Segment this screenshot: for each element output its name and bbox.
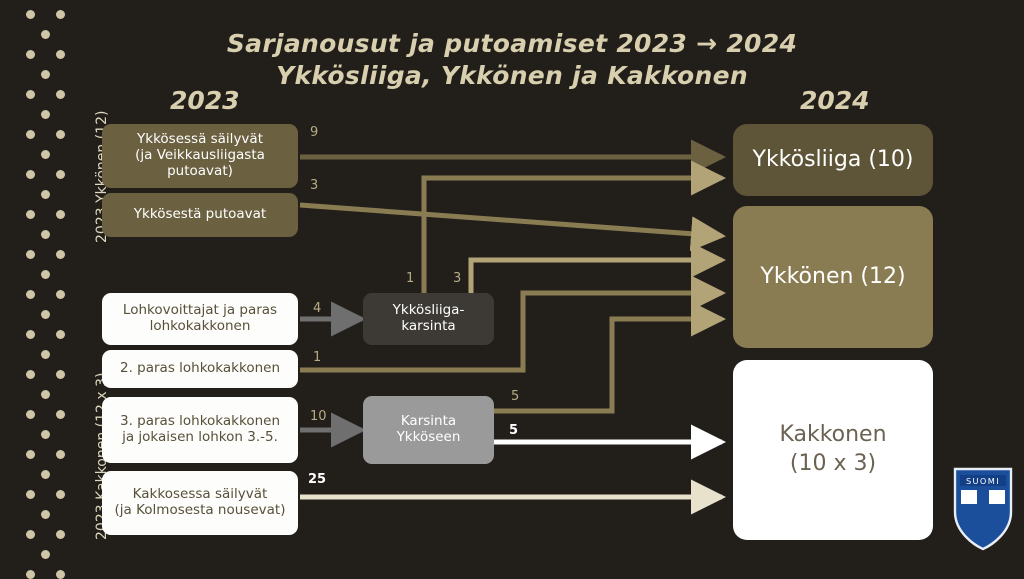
source-box-lohkovoittajat[interactable]: Lohkovoittajat ja paraslohkokakkonen bbox=[102, 293, 298, 345]
source-box-ykkosessa-sailyvat[interactable]: Ykkösessä säilyvät(ja Veikkausliigastapu… bbox=[102, 124, 298, 188]
flow-label-5-gold: 5 bbox=[511, 389, 519, 404]
source-box-kakkosessa-sailyvat[interactable]: Kakkosessa säilyvät(ja Kolmosesta nousev… bbox=[102, 471, 298, 535]
flow-label-10: 10 bbox=[310, 409, 327, 424]
flow-label-5-white: 5 bbox=[509, 423, 518, 438]
dest-box-label: Ykkösliiga (10) bbox=[753, 147, 914, 173]
flow-label-4: 4 bbox=[313, 301, 321, 316]
source-box-label: 3. paras lohkokakkonenja jokaisen lohkon… bbox=[120, 414, 280, 446]
source-box-label: Ykkösestä putoavat bbox=[134, 207, 266, 223]
dest-box-ykkonen[interactable]: Ykkönen (12) bbox=[733, 206, 933, 348]
flow-label-1-karsinta-out: 1 bbox=[406, 271, 414, 286]
arrow-5-karsinta-ykkonen bbox=[494, 319, 722, 411]
slide-canvas: Sarjanousut ja putoamiset 2023 → 2024 Yk… bbox=[0, 0, 1024, 576]
dest-box-kakkonen[interactable]: Kakkonen(10 x 3) bbox=[733, 360, 933, 540]
suomi-crest-icon: SUOMI bbox=[952, 466, 1014, 552]
playoff-box-ykkosliiga-karsinta[interactable]: Ykkösliiga-karsinta bbox=[363, 293, 494, 345]
dest-box-label: Kakkonen(10 x 3) bbox=[779, 421, 886, 478]
source-box-ykkosesta-putoavat[interactable]: Ykkösestä putoavat bbox=[102, 193, 298, 237]
source-box-label: Kakkosessa säilyvät(ja Kolmosesta nousev… bbox=[115, 487, 286, 519]
arrow-3-ykkonen-sloped bbox=[300, 205, 722, 236]
source-box-toinen-paras[interactable]: 2. paras lohkokakkonen bbox=[102, 350, 298, 388]
flow-label-25: 25 bbox=[308, 472, 326, 487]
source-box-label: 2. paras lohkokakkonen bbox=[120, 361, 280, 377]
dest-box-label: Ykkönen (12) bbox=[760, 264, 905, 290]
playoff-box-karsinta-ykkoseen[interactable]: KarsintaYkköseen bbox=[363, 396, 494, 464]
crest-label: SUOMI bbox=[966, 476, 1000, 486]
source-box-label: Ykkösessä säilyvät(ja Veikkausliigastapu… bbox=[135, 132, 265, 180]
flow-label-9: 9 bbox=[310, 125, 318, 140]
source-box-kolmas-paras[interactable]: 3. paras lohkokakkonenja jokaisen lohkon… bbox=[102, 397, 298, 463]
playoff-box-label: KarsintaYkköseen bbox=[397, 414, 461, 446]
playoff-box-label: Ykkösliiga-karsinta bbox=[393, 303, 465, 335]
source-box-label: Lohkovoittajat ja paraslohkokakkonen bbox=[123, 303, 277, 335]
flow-label-3-karsinta-out: 3 bbox=[453, 271, 461, 286]
flow-label-1-second: 1 bbox=[313, 350, 321, 365]
flow-label-3-top: 3 bbox=[310, 178, 318, 193]
dest-box-ykkosliiga[interactable]: Ykkösliiga (10) bbox=[733, 124, 933, 196]
